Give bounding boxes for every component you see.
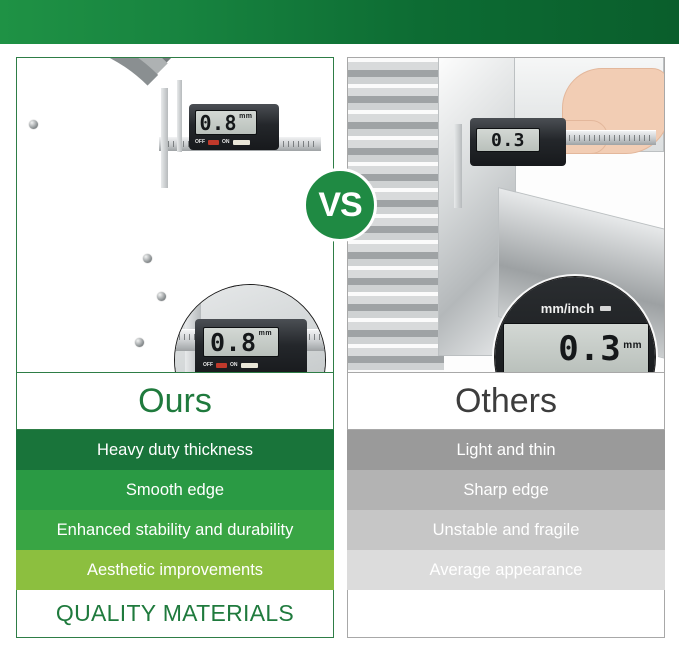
caliper-unit-zoom: mm: [259, 330, 272, 337]
panel-bolt: [157, 292, 166, 301]
caliper-unit-zoom: mm: [623, 340, 642, 351]
caliper-jaw: [177, 80, 182, 152]
others-feature-label: Sharp edge: [463, 481, 548, 500]
caliper-zero-button-zoom[interactable]: [241, 363, 258, 368]
caliper-on-label: ON: [222, 139, 230, 145]
ours-column: 0.8 mm OFF ON 0.8 mm: [16, 57, 334, 659]
caliper-lcd-zoom: 0.3 mm: [503, 323, 649, 373]
caliper-reading-value: 0.3: [491, 130, 525, 151]
caliper-power-switch-zoom[interactable]: [216, 363, 227, 368]
comparison-infographic: 0.8 mm OFF ON 0.8 mm: [0, 0, 679, 659]
caliper-off-label-zoom: OFF: [203, 362, 213, 368]
magnifier-content: 0.8 mm OFF ON: [175, 285, 325, 373]
caliper-off-label: OFF: [195, 139, 205, 145]
ours-feature-label: Heavy duty thickness: [97, 441, 253, 460]
caliper-lcd-zoom: 0.8 mm: [203, 327, 279, 357]
ours-feature-row: Enhanced stability and durability: [16, 510, 334, 550]
ours-photo-frame: 0.8 mm OFF ON 0.8 mm: [16, 57, 334, 373]
ours-feature-row: Smooth edge: [16, 470, 334, 510]
panel-bolt: [135, 338, 144, 347]
caliper-jaw: [161, 88, 168, 188]
caliper-power-switch[interactable]: [208, 140, 219, 145]
caliper-reading-value: 0.8: [199, 111, 237, 135]
ours-feature-label: Smooth edge: [126, 481, 224, 500]
caliper-on-label-zoom: ON: [230, 362, 238, 368]
others-heading: Others: [347, 373, 665, 430]
ours-feature-row: Heavy duty thickness: [16, 430, 334, 470]
ours-magnifier-inset: 0.8 mm OFF ON: [174, 284, 326, 373]
ours-footer: QUALITY MATERIALS: [16, 590, 334, 638]
panel-bolt: [143, 254, 152, 263]
others-feature-row: Average appearance: [347, 550, 665, 590]
others-feature-label: Light and thin: [456, 441, 555, 460]
ours-feature-list: Heavy duty thickness Smooth edge Enhance…: [16, 430, 334, 590]
caliper-jaw: [454, 124, 462, 208]
caliper-button-row-zoom: OFF ON: [203, 362, 258, 368]
caliper-unit-label: mm: [239, 113, 252, 120]
caliper-mode-button[interactable]: [600, 306, 611, 311]
others-feature-list: Light and thin Sharp edge Unstable and f…: [347, 430, 665, 590]
others-magnifier-inset: mm/inch 0.3 mm OFF ON ZERO: [494, 276, 656, 373]
others-feature-label: Unstable and fragile: [433, 521, 580, 540]
vs-label: VS: [318, 186, 361, 225]
panel-bolt: [29, 120, 38, 129]
others-feature-row: Sharp edge: [347, 470, 665, 510]
top-green-banner: [0, 0, 679, 44]
ours-heading: Ours: [16, 373, 334, 430]
others-photo-frame: 0.3 mm/inch 0.3 mm OFF ON: [347, 57, 665, 373]
caliper-reading-value-zoom: 0.8: [210, 328, 257, 357]
ours-heading-text: Ours: [138, 382, 212, 421]
others-feature-row: Unstable and fragile: [347, 510, 665, 550]
caliper-lcd-display: 0.3: [476, 128, 540, 152]
ours-feature-row: Aesthetic improvements: [16, 550, 334, 590]
others-heading-text: Others: [455, 382, 557, 421]
caliper-mode-label: mm/inch: [541, 301, 594, 316]
others-column: 0.3 mm/inch 0.3 mm OFF ON: [347, 57, 665, 659]
ours-feature-label: Enhanced stability and durability: [57, 521, 294, 540]
caliper-zero-button[interactable]: [233, 140, 250, 145]
others-feature-label: Average appearance: [430, 561, 583, 580]
caliper-lcd-display: 0.8 mm: [195, 110, 257, 135]
caliper-button-row: OFF ON: [195, 139, 250, 145]
magnifier-content: mm/inch 0.3 mm OFF ON ZERO: [495, 277, 655, 373]
ours-footer-text: QUALITY MATERIALS: [56, 600, 294, 627]
caliper-reading-value-zoom: 0.3: [558, 329, 621, 369]
ours-feature-label: Aesthetic improvements: [87, 561, 263, 580]
vs-badge: VS: [303, 168, 377, 242]
others-feature-row: Light and thin: [347, 430, 665, 470]
others-footer: [347, 590, 665, 638]
